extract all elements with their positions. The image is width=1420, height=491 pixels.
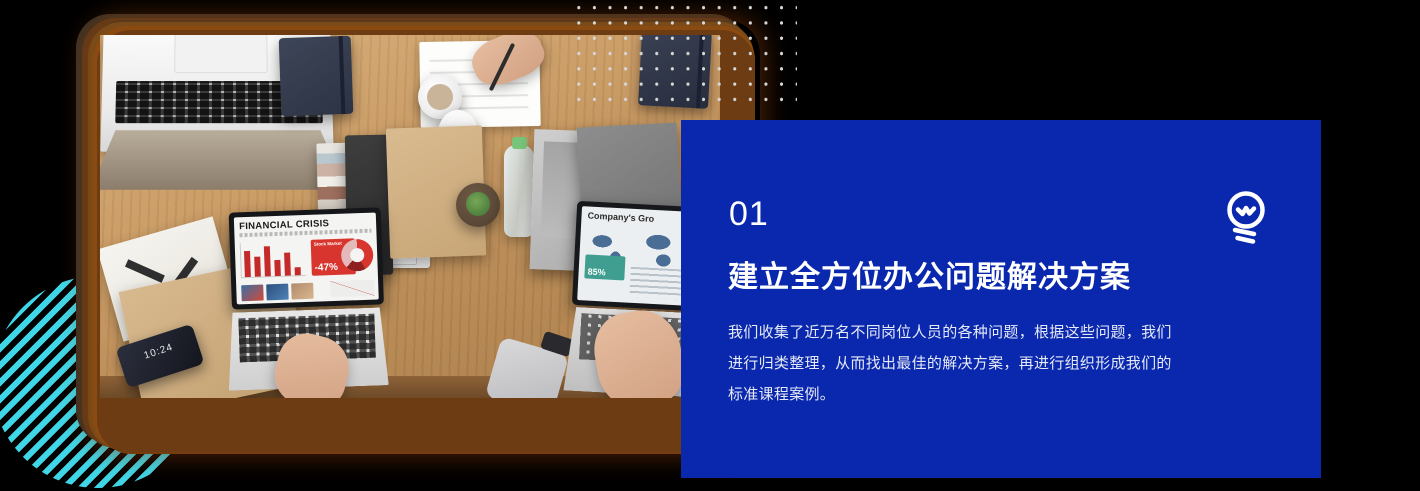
stat-value: -47%: [314, 262, 338, 274]
water-bottle: [504, 145, 534, 237]
laptop-top-base: [100, 130, 346, 190]
laptop-left-screen: FINANCIAL CRISIS Stock Market: [229, 207, 384, 309]
laptop-left-display: FINANCIAL CRISIS Stock Market: [234, 213, 379, 305]
company-growth-title: Company's Gro: [587, 210, 654, 223]
dot-grid-decoration: [569, 0, 797, 112]
cactus-plant: [456, 183, 500, 227]
growth-percentage: 85%: [587, 267, 606, 278]
section-title: 建立全方位办公问题解决方案: [728, 261, 1131, 296]
section-number: 01: [729, 197, 769, 231]
section-body-text: 我们收集了近万名不同岗位人员的各种问题，根据这些问题，我们进行归类整理，从而找出…: [728, 317, 1186, 410]
company-growth-badge: 85%: [584, 254, 625, 280]
financial-crisis-line-chart: [330, 280, 375, 298]
financial-crisis-bar-chart: [240, 241, 306, 278]
slide-canvas: 10:24 FINANCIAL CRISIS: [0, 0, 1420, 491]
financial-crisis-donut-chart: [341, 239, 374, 272]
lightbulb-icon: [1221, 190, 1271, 248]
stat-label: Stock Market: [314, 241, 342, 247]
content-panel: 01 建立全方位办公问题解决方案 我们收集了近万名不同岗位人员的各种问题，根据这…: [681, 120, 1321, 478]
financial-crisis-tiles: [241, 283, 314, 302]
navy-notebook: [279, 36, 354, 116]
laptop-top-trackpad: [174, 35, 268, 73]
